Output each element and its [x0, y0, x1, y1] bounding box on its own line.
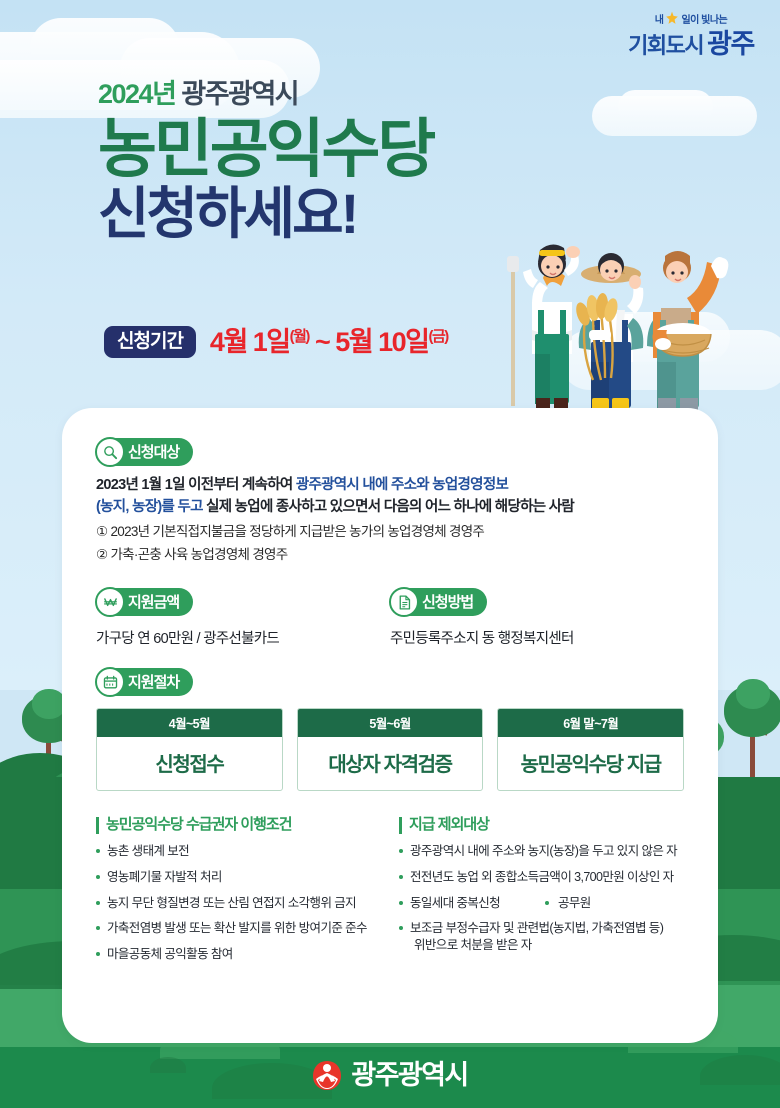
section-procedure: 지원절차 4월~5월 신청접수 5월~6월 대상자 자격검증 6월 말~7월 농…	[96, 668, 684, 791]
brand-tagline-row: 내 일이 빛나는	[626, 14, 756, 28]
exclusions-heading: 지급 제외대상	[399, 817, 684, 834]
content-card: 신청대상 2023년 1월 1일 이전부터 계속하여 광주광역시 내에 주소와 …	[62, 408, 718, 1043]
procedure-step-period: 4월~5월	[97, 709, 282, 737]
section-eligibility: 신청대상 2023년 1월 1일 이전부터 계속하여 광주광역시 내에 주소와 …	[96, 438, 684, 566]
calendar-icon	[95, 667, 125, 697]
period-start-day: (월)	[290, 328, 309, 345]
bottom-lists: 농민공익수당 수급권자 이행조건 농촌 생태계 보전 영농폐기물 자발적 처리 …	[96, 817, 684, 972]
eligibility-label: 신청대상	[128, 445, 179, 460]
farmer-with-rice-basket	[647, 251, 728, 410]
procedure-step-name: 신청접수	[97, 737, 282, 790]
period-badge: 신청기간	[104, 326, 196, 358]
amount-method-row: 지원금액 가구당 연 60만원 / 광주선불카드 신청방법 주민등록주소지 동 …	[96, 588, 684, 648]
section-amount: 지원금액 가구당 연 60만원 / 광주선불카드	[96, 588, 390, 648]
page-title: 농민공익수당	[98, 116, 618, 183]
farmer-with-straw-wheat	[574, 253, 644, 410]
farmer-woman-with-hoe	[507, 244, 580, 408]
gwangju-brand-logo: 내 일이 빛나는 기회도시 광주	[626, 14, 756, 58]
brand-word: 기회도시	[628, 35, 703, 57]
list-item: 가축전염병 발생 또는 확산 발지를 위한 방여기준 준수	[96, 920, 381, 937]
period-start: 4월 1일	[210, 327, 290, 357]
conditions-heading: 농민공익수당 수급권자 이행조건	[96, 817, 381, 834]
cloud-icon	[618, 90, 713, 124]
exclusions-column: 지급 제외대상 광주광역시 내에 주소와 농지(농장)을 두고 있지 않은 자 …	[399, 817, 684, 972]
procedure-label: 지원절차	[128, 675, 179, 690]
procedure-step-period: 5월~6월	[298, 709, 483, 737]
exclusion-last-line1: 보조금 부정수급자 및 관련법(농지법, 가축전염볍 등)	[410, 921, 663, 935]
period-separator: ~	[315, 327, 329, 357]
list-item: 농지 무단 형질변경 또는 산림 연접지 소각행위 금지	[96, 895, 381, 912]
eligibility-line1-plain: 2023년 1월 1일 이전부터 계속하여	[96, 477, 296, 493]
procedure-step-name: 대상자 자격검증	[298, 737, 483, 790]
period-date-text: 4월 1일(월) ~ 5월 10일(금)	[210, 329, 448, 356]
exclusion-pair-left: 동일세대 중복신청	[410, 896, 500, 910]
procedure-step: 4월~5월 신청접수	[96, 708, 283, 791]
method-pill: 신청방법	[390, 588, 487, 616]
footer-city-name: 광주광역시	[351, 1062, 467, 1089]
won-icon	[95, 587, 125, 617]
list-item: 영농폐기물 자발적 처리	[96, 869, 381, 886]
procedure-steps: 4월~5월 신청접수 5월~6월 대상자 자격검증 6월 말~7월 농민공익수당…	[96, 708, 684, 791]
headline-subtitle: 2024년 광주광역시	[98, 80, 618, 110]
method-value: 주민등록주소지 동 행정복지센터	[390, 627, 684, 648]
procedure-step-period: 6월 말~7월	[498, 709, 683, 737]
three-farmers-illustration	[505, 222, 780, 412]
amount-pill: 지원금액	[96, 588, 193, 616]
magnifier-icon	[95, 437, 125, 467]
period-end: 5월 10일	[335, 327, 428, 357]
eligibility-item: ② 가축·곤충 사육 농업경영체 경영주	[96, 545, 684, 566]
exclusion-pair-right: 공무원	[545, 895, 591, 912]
list-item-multiline: 보조금 부정수급자 및 관련법(농지법, 가축전염볍 등) 위반으로 처분을 받…	[399, 920, 684, 954]
eligibility-line2-plain: 실제 농업에 종사하고 있으면서 다음의 어느 하나에 해당하는 사람	[203, 499, 574, 515]
eligibility-item: ① 2023년 기본직접지불금을 정당하게 지급받은 농가의 농업경영체 경영주	[96, 522, 684, 543]
eligibility-line2-highlight: (농지, 농장)를 두고	[96, 499, 203, 515]
procedure-pill: 지원절차	[96, 668, 193, 696]
eligibility-line-1: 2023년 1월 1일 이전부터 계속하여 광주광역시 내에 주소와 농업경영정…	[96, 475, 684, 497]
headline-year: 2024년	[98, 79, 175, 109]
brand-tagline-pre: 내	[655, 16, 664, 26]
application-period: 신청기간 4월 1일(월) ~ 5월 10일(금)	[104, 326, 448, 358]
list-item-pair: 동일세대 중복신청 공무원	[399, 895, 684, 912]
conditions-list: 농촌 생태계 보전 영농폐기물 자발적 처리 농지 무단 형질변경 또는 산림 …	[96, 843, 381, 963]
footer-bar: 광주광역시	[0, 1042, 780, 1108]
eligibility-body: 2023년 1월 1일 이전부터 계속하여 광주광역시 내에 주소와 농업경영정…	[96, 475, 684, 566]
star-icon	[665, 11, 679, 25]
document-icon	[389, 587, 419, 617]
method-label: 신청방법	[422, 595, 473, 610]
brand-city: 광주	[707, 31, 754, 58]
amount-value: 가구당 연 60만원 / 광주선불카드	[96, 627, 390, 648]
list-item: 마을공동체 공익활동 참여	[96, 946, 381, 963]
procedure-step-name: 농민공익수당 지급	[498, 737, 683, 790]
poster-headline: 2024년 광주광역시 농민공익수당 신청하세요!	[98, 80, 618, 244]
list-item: 전전년도 농업 외 종합소득금액이 3,700만원 이상인 자	[399, 869, 684, 886]
gwangju-emblem-icon	[312, 1059, 342, 1091]
period-end-day: (금)	[428, 328, 447, 345]
section-method: 신청방법 주민등록주소지 동 행정복지센터	[390, 588, 684, 648]
brand-main-row: 기회도시 광주	[626, 31, 756, 58]
eligibility-line1-highlight: 광주광역시 내에 주소와 농업경영정보	[296, 477, 508, 493]
eligibility-line-2: (농지, 농장)를 두고 실제 농업에 종사하고 있으면서 다음의 어느 하나에…	[96, 497, 684, 519]
headline-city: 광주광역시	[181, 79, 298, 109]
list-item: 농촌 생태계 보전	[96, 843, 381, 860]
amount-label: 지원금액	[128, 595, 179, 610]
exclusion-last-line2: 위반으로 처분을 받은 자	[410, 937, 684, 954]
conditions-column: 농민공익수당 수급권자 이행조건 농촌 생태계 보전 영농폐기물 자발적 처리 …	[96, 817, 381, 972]
brand-tagline-post: 일이 빛나는	[681, 16, 727, 26]
procedure-step: 6월 말~7월 농민공익수당 지급	[497, 708, 684, 791]
eligibility-pill: 신청대상	[96, 438, 193, 466]
procedure-step: 5월~6월 대상자 자격검증	[297, 708, 484, 791]
list-item: 광주광역시 내에 주소와 농지(농장)을 두고 있지 않은 자	[399, 843, 684, 860]
exclusions-list: 광주광역시 내에 주소와 농지(농장)을 두고 있지 않은 자 전전년도 농업 …	[399, 843, 684, 954]
